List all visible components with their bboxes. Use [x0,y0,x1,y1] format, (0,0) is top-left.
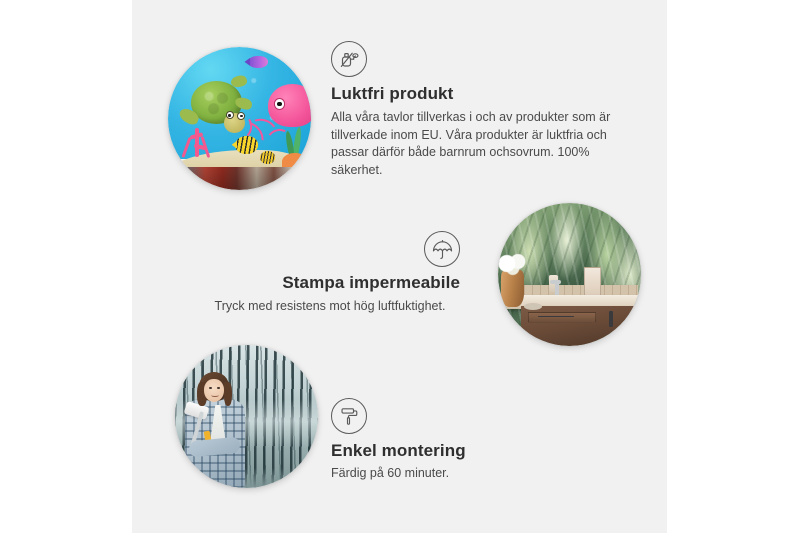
cabinet-handle [609,311,613,327]
wooden-vanity [521,306,641,346]
person-hair-side [224,382,233,406]
turtle-eye [226,111,234,119]
umbrella-icon-wrap [200,231,460,267]
yellow-striped-fish [235,136,258,155]
drawer-handle [538,316,573,317]
umbrella-icon [424,231,460,267]
feature-block-mounting: Enkel montering Färdig på 60 minuter. [331,398,591,483]
feature-block-odourless: Luktfri produkt Alla våra tavlor tillver… [331,41,631,179]
bathroom-image [498,203,641,346]
feature-body: Tryck med resistens mot hög luftfuktighe… [200,298,460,316]
person-eye [209,387,212,389]
pink-coral [179,127,216,167]
sea-scene-image [168,47,311,190]
photo-circle-sea [168,47,311,190]
octopus-eye [274,98,285,109]
white-flowers [498,252,532,278]
feature-title: Luktfri produkt [331,84,631,104]
photo-circle-forest [175,345,318,488]
feature-body: Alla våra tavlor tillverkas i och av pro… [331,109,631,179]
feature-body: Färdig på 60 minuter. [331,465,591,483]
feature-title: Enkel montering [331,441,591,461]
person-smile [211,394,219,397]
feature-title: Stampa impermeabile [200,273,460,293]
feature-block-waterproof: Stampa impermeabile Tryck med resistens … [200,231,460,316]
paint-roller-icon [331,398,367,434]
room-photo-strip [168,167,311,190]
no-fragrance-icon [331,41,367,77]
photo-circle-bathroom [498,203,641,346]
forest-installer-image [175,345,318,488]
product-feature-panel: Luktfri produkt Alla våra tavlor tillver… [0,0,800,533]
